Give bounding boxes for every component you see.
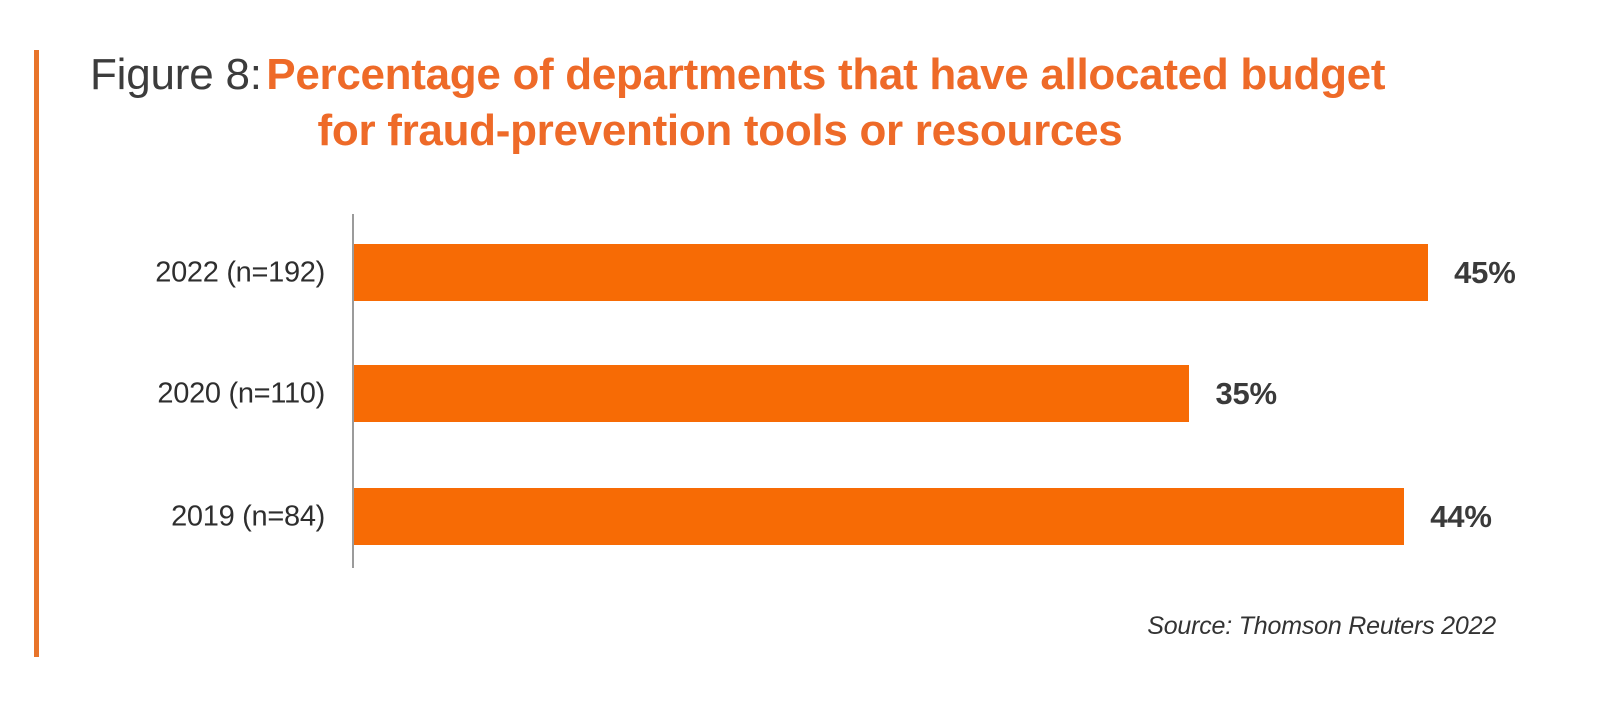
source-note: Source: Thomson Reuters 2022: [0, 612, 1496, 641]
category-label-2019: 2019 (n=84): [5, 500, 325, 533]
bar-value-2019: 44%: [1430, 499, 1491, 535]
bar-row-2019: 44%: [354, 488, 1404, 545]
category-label-2020: 2020 (n=110): [5, 377, 325, 410]
bar-chart-plot-area: 2022 (n=192) 45% 2020 (n=110) 35% 2019 (…: [0, 0, 1600, 716]
bar-2022[interactable]: [354, 244, 1428, 301]
bar-2020[interactable]: [354, 365, 1189, 422]
bar-row-2020: 35%: [354, 365, 1189, 422]
chart-row-1: 2020 (n=110) 35%: [0, 365, 1600, 422]
category-label-2022: 2022 (n=192): [5, 256, 325, 289]
bar-value-2022: 45%: [1454, 255, 1515, 291]
bar-row-2022: 45%: [354, 244, 1428, 301]
chart-row-0: 2022 (n=192) 45%: [0, 244, 1600, 301]
chart-row-2: 2019 (n=84) 44%: [0, 488, 1600, 545]
bar-value-2020: 35%: [1215, 376, 1276, 412]
bar-2019[interactable]: [354, 488, 1404, 545]
